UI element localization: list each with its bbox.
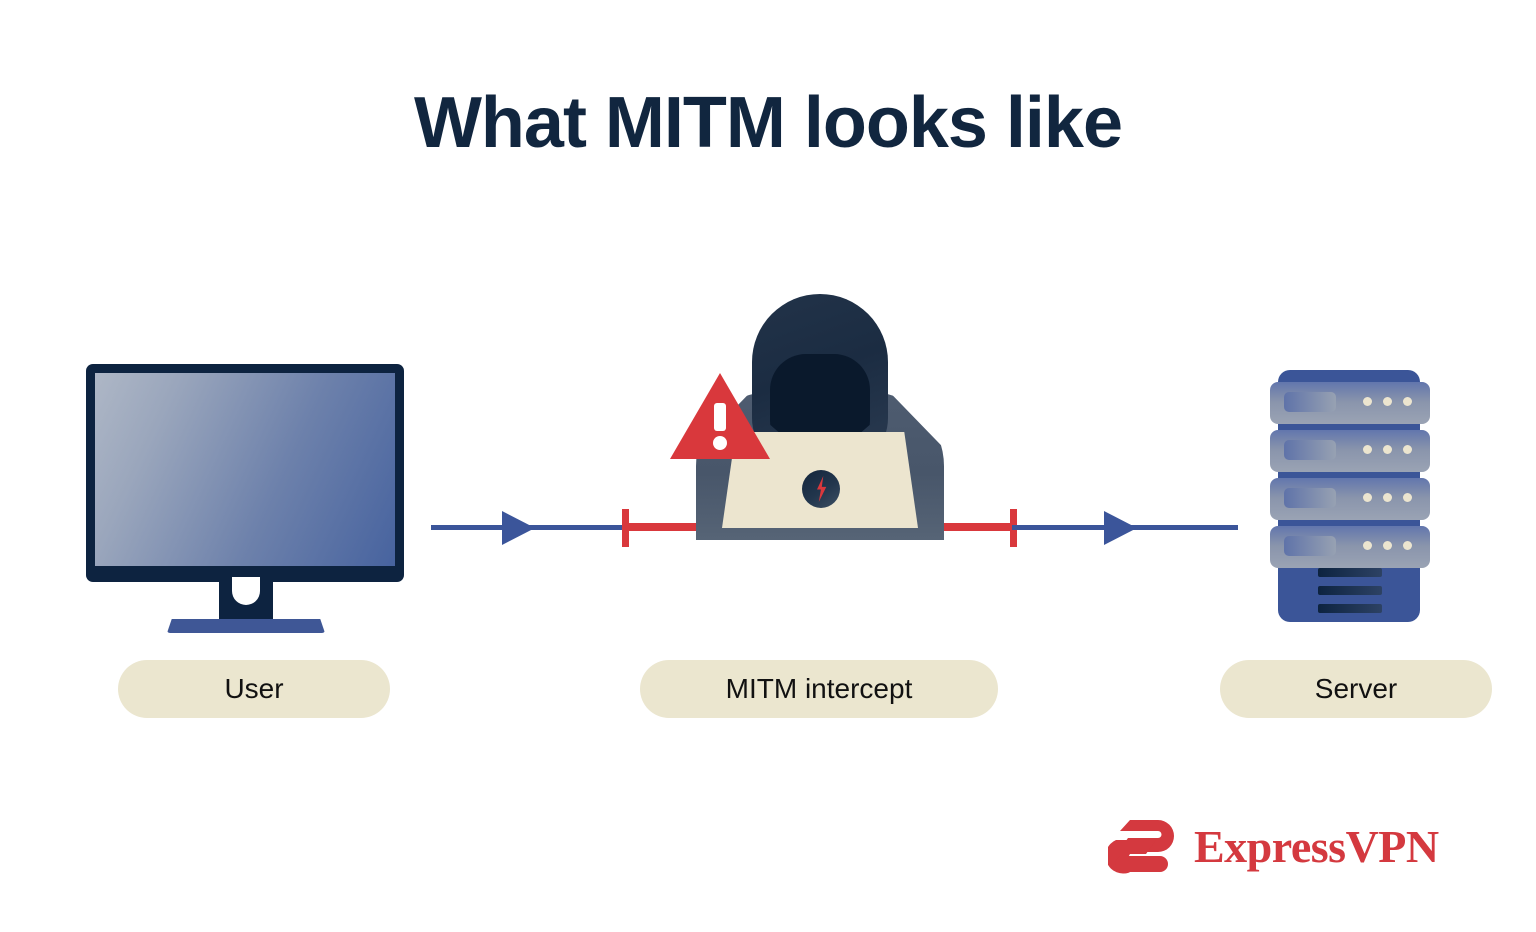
server-rack-unit	[1270, 478, 1430, 520]
infographic-canvas: What MITM looks like	[0, 0, 1536, 932]
server-led-group	[1363, 397, 1412, 406]
monitor-screen	[95, 373, 395, 566]
expressvpn-wordmark: ExpressVPN	[1194, 820, 1439, 873]
server-rack-icon	[1270, 368, 1430, 624]
server-led	[1363, 493, 1372, 502]
page-title: What MITM looks like	[0, 82, 1536, 164]
exclamation-dot	[713, 436, 727, 450]
server-led	[1363, 541, 1372, 550]
server-led	[1363, 445, 1372, 454]
server-led	[1403, 493, 1412, 502]
server-rack-unit	[1270, 526, 1430, 568]
server-base-lines	[1318, 568, 1382, 622]
server-led	[1383, 445, 1392, 454]
monitor-stand-base	[167, 619, 325, 633]
server-led-group	[1363, 493, 1412, 502]
server-base-line	[1318, 586, 1382, 595]
server-led	[1383, 493, 1392, 502]
server-led-group	[1363, 445, 1412, 454]
server-slot	[1284, 536, 1336, 556]
server-led	[1383, 541, 1392, 550]
exclamation-bar	[714, 403, 726, 431]
server-slot	[1284, 440, 1336, 460]
server-base-line	[1318, 604, 1382, 613]
server-led	[1403, 397, 1412, 406]
expressvpn-logo: ExpressVPN	[1108, 812, 1438, 880]
server-led	[1403, 541, 1412, 550]
expressvpn-e-icon	[1108, 816, 1180, 876]
label-pill-mitm: MITM intercept	[640, 660, 998, 718]
label-pill-user: User	[118, 660, 390, 718]
arrow-right-icon	[1104, 511, 1137, 545]
label-pill-server: Server	[1220, 660, 1492, 718]
server-led	[1363, 397, 1372, 406]
server-slot	[1284, 392, 1336, 412]
server-rack-unit	[1270, 430, 1430, 472]
warning-triangle-icon	[670, 373, 770, 459]
desktop-monitor-icon	[86, 364, 404, 632]
server-slot	[1284, 488, 1336, 508]
server-base-line	[1318, 568, 1382, 577]
server-rack-unit	[1270, 382, 1430, 424]
monitor-stand-notch	[232, 577, 260, 605]
server-led	[1403, 445, 1412, 454]
hooded-hacker-with-laptop-icon	[660, 280, 980, 540]
server-led-group	[1363, 541, 1412, 550]
server-led	[1383, 397, 1392, 406]
arrow-right-icon	[502, 511, 535, 545]
intercept-tick-left	[622, 509, 629, 547]
